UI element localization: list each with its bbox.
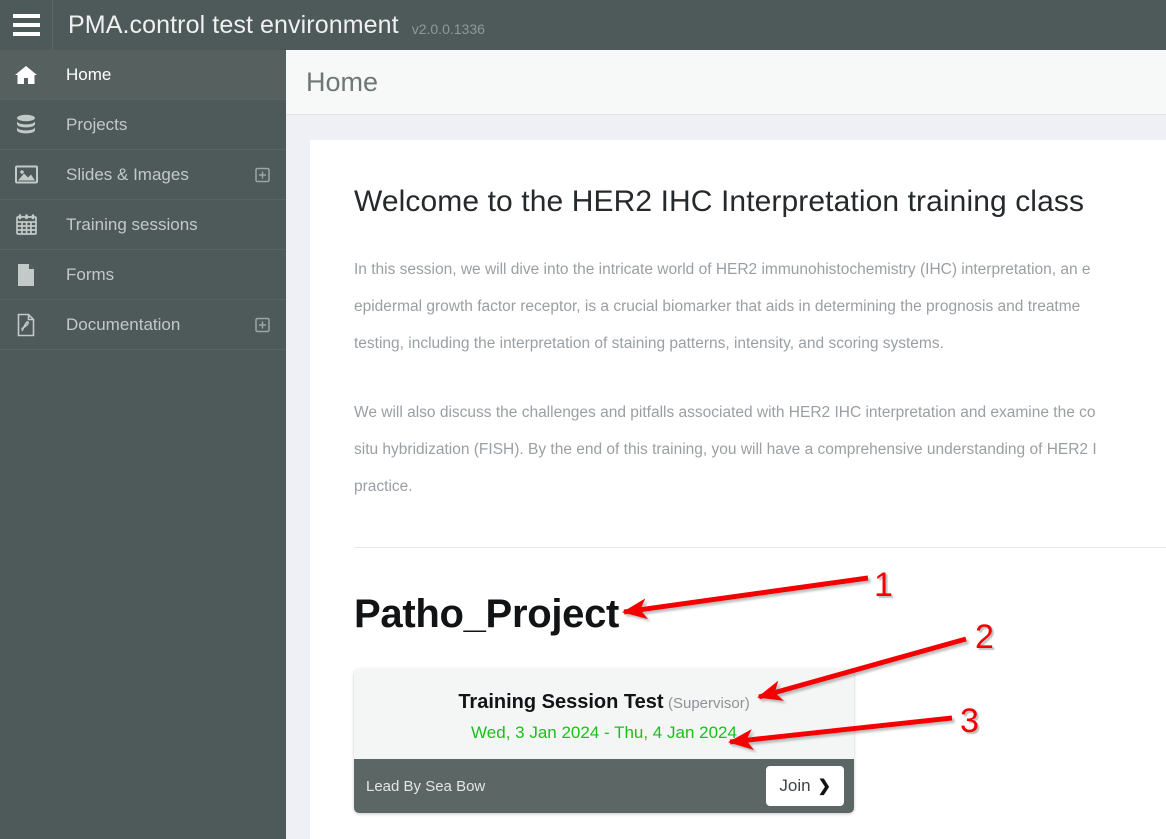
- plus-box-icon[interactable]: [255, 317, 270, 332]
- paragraph-line: practice.: [354, 468, 1166, 505]
- page-title: Home: [306, 67, 378, 98]
- main-content: Home Welcome to the HER2 IHC Interpretat…: [286, 50, 1166, 839]
- session-date-range: Wed, 3 Jan 2024 - Thu, 4 Jan 2024: [354, 723, 854, 743]
- session-title-row: Training Session Test (Supervisor): [354, 691, 854, 714]
- sidebar-item-projects[interactable]: Projects: [0, 100, 286, 150]
- image-icon: [0, 164, 52, 185]
- sidebar-item-label: Forms: [52, 265, 114, 285]
- project-title: Patho_Project: [354, 592, 1166, 637]
- hamburger-menu-icon[interactable]: [0, 0, 52, 50]
- plus-box-icon[interactable]: [255, 167, 270, 182]
- session-lead-by: Lead By Sea Bow: [366, 778, 485, 795]
- sidebar-item-label: Home: [52, 65, 111, 85]
- paragraph-line: epidermal growth factor receptor, is a c…: [354, 288, 1166, 325]
- paragraph-line: In this session, we will dive into the i…: [354, 251, 1166, 288]
- app-root: PMA.control test environment v2.0.0.1336…: [0, 0, 1166, 839]
- file-icon: [0, 263, 52, 287]
- session-card-body: Training Session Test (Supervisor) Wed, …: [354, 669, 854, 759]
- sidebar-item-label: Documentation: [52, 315, 180, 335]
- sidebar-item-label: Slides & Images: [52, 165, 189, 185]
- sidebar-item-label: Projects: [52, 115, 127, 135]
- paragraph-line: situ hybridization (FISH). By the end of…: [354, 431, 1166, 468]
- app-brand-title: PMA.control test environment: [53, 11, 399, 40]
- chevron-right-icon: ❯: [818, 776, 831, 796]
- home-icon: [0, 64, 52, 86]
- sidebar-item-forms[interactable]: Forms: [0, 250, 286, 300]
- top-bar: PMA.control test environment v2.0.0.1336: [0, 0, 1166, 50]
- content-card: Welcome to the HER2 IHC Interpretation t…: [310, 140, 1166, 839]
- database-icon: [0, 114, 52, 136]
- sidebar-nav: Home Projects Slides & Images: [0, 50, 286, 839]
- session-card-footer: Lead By Sea Bow Join ❯: [354, 759, 854, 813]
- training-session-card[interactable]: Training Session Test (Supervisor) Wed, …: [354, 669, 854, 813]
- sidebar-item-slides-images[interactable]: Slides & Images: [0, 150, 286, 200]
- intro-paragraph-2: We will also discuss the challenges and …: [354, 394, 1166, 505]
- app-version-label: v2.0.0.1336: [399, 13, 485, 37]
- join-button-label: Join: [779, 776, 810, 796]
- sidebar-item-label: Training sessions: [52, 215, 198, 235]
- sidebar-item-training-sessions[interactable]: Training sessions: [0, 200, 286, 250]
- sidebar-item-documentation[interactable]: Documentation: [0, 300, 286, 350]
- pdf-icon: [0, 313, 52, 337]
- session-name: Training Session Test: [458, 691, 663, 713]
- join-button[interactable]: Join ❯: [766, 766, 844, 806]
- paragraph-line: testing, including the interpretation of…: [354, 325, 1166, 362]
- paragraph-line: We will also discuss the challenges and …: [354, 394, 1166, 431]
- section-divider: [354, 547, 1166, 548]
- welcome-heading: Welcome to the HER2 IHC Interpretation t…: [354, 185, 1166, 219]
- sidebar-item-home[interactable]: Home: [0, 50, 286, 100]
- page-header: Home: [286, 50, 1166, 115]
- session-role-badge: (Supervisor): [668, 695, 750, 712]
- calendar-icon: [0, 213, 52, 236]
- intro-paragraph-1: In this session, we will dive into the i…: [354, 251, 1166, 362]
